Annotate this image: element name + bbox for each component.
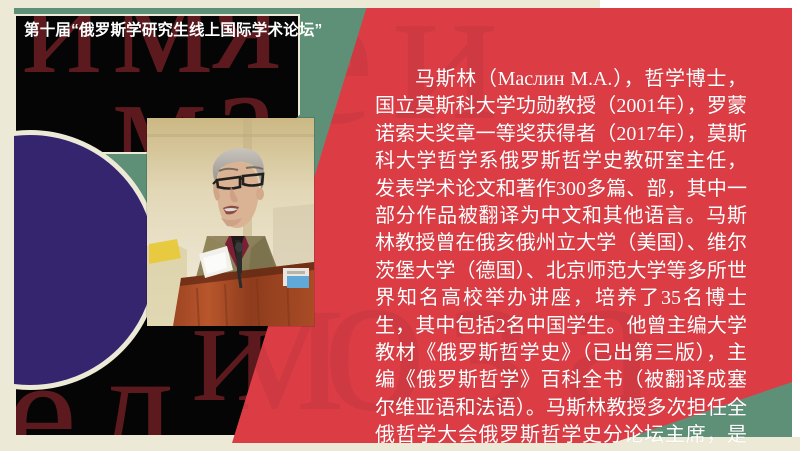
left-cream-rail — [0, 0, 14, 451]
portrait-illustration — [147, 118, 314, 326]
speaker-portrait-photo — [147, 118, 314, 326]
slide-title-bar: 第十届“俄罗斯学研究生线上国际学术论坛” — [14, 14, 334, 44]
presentation-slide: м М М а и м я м а е л и е и м о з а 第十届“… — [0, 0, 800, 451]
speaker-biography-text: 马斯林（Маслин М.А.），哲学博士，国立莫斯科大学功勋教授（2001年）… — [375, 66, 747, 451]
slide-title: 第十届“俄罗斯学研究生线上国际学术论坛” — [14, 18, 323, 40]
